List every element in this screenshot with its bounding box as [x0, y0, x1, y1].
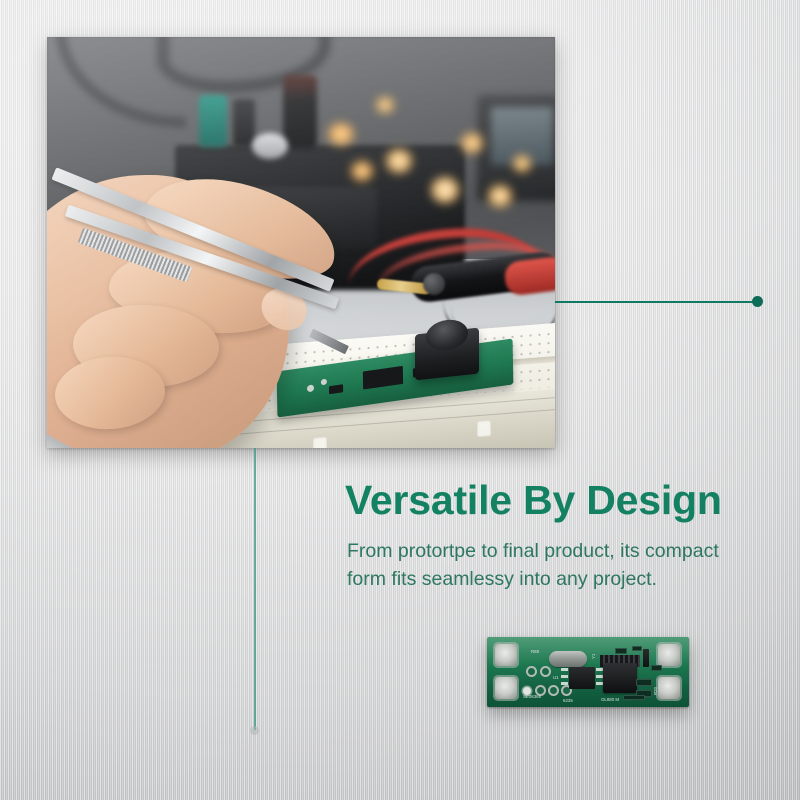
ic-pin	[596, 668, 603, 671]
resistor	[632, 646, 642, 651]
mounting-pad-top-left	[495, 644, 517, 666]
module-component	[329, 384, 343, 394]
through-hole	[550, 687, 557, 694]
transistor	[643, 649, 649, 667]
subtitle-line-2: form fits seamlessy into any project.	[347, 566, 745, 594]
right-connector-line	[555, 301, 754, 303]
silkscreen-label: R20	[653, 687, 658, 695]
mounting-pad-top-right	[658, 644, 680, 666]
silkscreen-label: OL880 M	[601, 697, 619, 702]
hero-photo-scene	[47, 37, 555, 448]
resistor	[615, 648, 627, 654]
photo-bokeh-light	[513, 155, 531, 172]
ic-pin	[561, 668, 568, 671]
soic-ic	[569, 667, 595, 689]
mounting-pad-bottom-left	[495, 677, 517, 699]
qfn-ic	[603, 663, 637, 693]
hero-photo	[47, 37, 555, 448]
product-pcb-image: R88 1+ SE08366 U1 6235 OL880 M Y1 R20	[487, 637, 689, 707]
crystal-oscillator	[549, 651, 587, 667]
silkscreen-label: 1+	[503, 682, 508, 687]
module-ic	[363, 366, 403, 390]
photo-silver-knob	[252, 133, 288, 159]
inductor	[636, 679, 652, 686]
photo-teal-capacitor	[199, 95, 227, 147]
through-hole	[528, 668, 535, 675]
silkscreen-label: R88	[531, 649, 539, 654]
module-pad	[307, 384, 314, 392]
silkscreen-label: SE08366	[523, 694, 541, 699]
through-hole	[542, 668, 549, 675]
ic-pin	[561, 675, 568, 678]
photo-tactile-button	[415, 328, 479, 381]
right-connector-dot-icon	[752, 296, 763, 307]
photo-black-capacitor	[233, 99, 255, 147]
resistor	[651, 665, 662, 671]
subtitle-line-1: From protortpe to final product, its com…	[347, 538, 745, 566]
resistor-array	[623, 695, 645, 700]
breadboard-clip	[477, 420, 491, 437]
ic-pin	[596, 675, 603, 678]
photo-bokeh-light	[351, 161, 373, 181]
mounting-pad-bottom-right	[658, 677, 680, 699]
photo-probe-cap	[423, 273, 445, 295]
silkscreen-label: U1	[553, 675, 559, 680]
photo-bokeh-light	[376, 97, 394, 113]
silkscreen-label: 6235	[563, 698, 573, 703]
page-title: Versatile By Design	[345, 479, 745, 522]
through-hole	[537, 687, 544, 694]
photo-tall-component	[283, 75, 317, 149]
module-pad	[321, 379, 327, 386]
ic-pin	[561, 682, 568, 685]
photo-bokeh-light	[488, 185, 512, 207]
photo-bokeh-light	[328, 123, 354, 145]
photo-bokeh-light	[461, 133, 483, 153]
silkscreen-label: Y1	[591, 654, 596, 659]
page-subtitle: From protortpe to final product, its com…	[347, 538, 745, 593]
photo-bokeh-light	[386, 149, 412, 173]
bottom-connector-line	[254, 448, 256, 730]
breadboard-clip	[313, 437, 327, 448]
slide-canvas: Versatile By Design From protortpe to fi…	[0, 0, 800, 800]
bottom-connector-dot-icon	[250, 726, 259, 735]
photo-bokeh-light	[431, 177, 459, 203]
ic-pin	[596, 682, 603, 685]
